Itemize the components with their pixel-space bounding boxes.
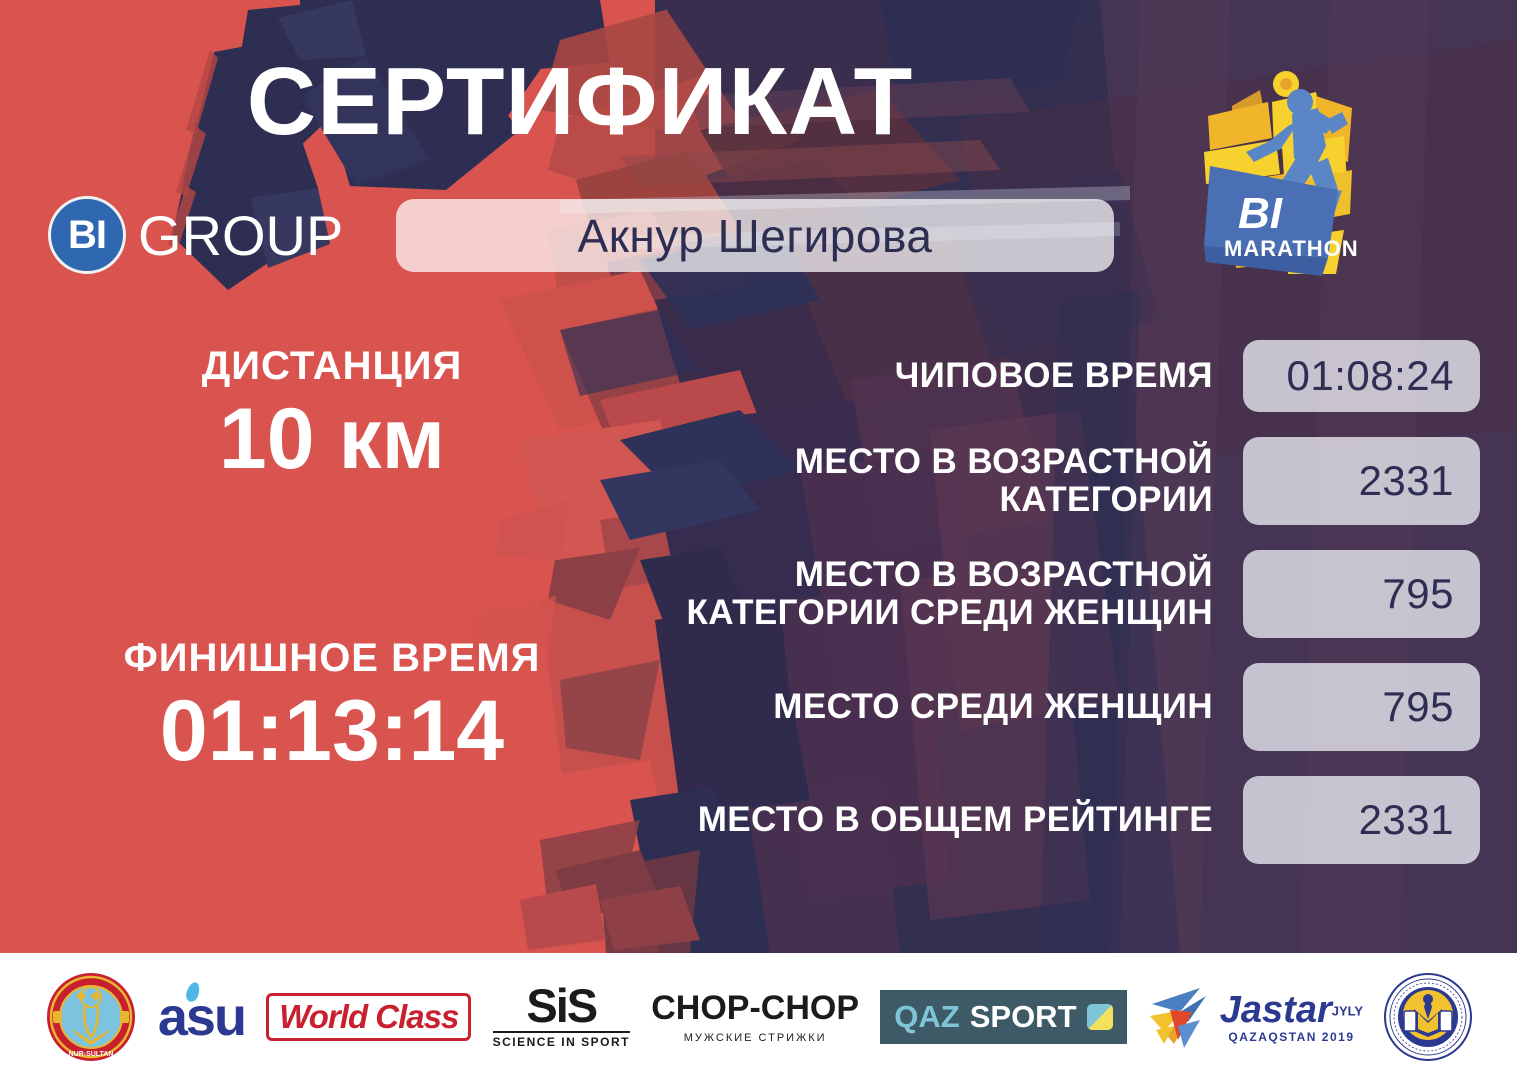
sponsor-asu: asu xyxy=(158,969,245,1065)
right-stats-column: ЧИПОВОЕ ВРЕМЯ 01:08:24 МЕСТО В ВОЗРАСТНО… xyxy=(600,340,1480,889)
stat-row: ЧИПОВОЕ ВРЕМЯ 01:08:24 xyxy=(600,340,1480,412)
stat-label: ЧИПОВОЕ ВРЕМЯ xyxy=(600,357,1243,396)
sponsor-bar: NUR-SULTAN asu World Class SiS SCIENCE I… xyxy=(0,953,1517,1080)
sponsor-ministry-seal xyxy=(1384,969,1472,1065)
bi-marathon-logo-icon: BI MARATHON xyxy=(1176,62,1396,294)
stat-value: 01:08:24 xyxy=(1243,340,1480,412)
certificate-page: СЕРТИФИКАТ BI GROUP Акнур Шегирова xyxy=(0,0,1517,1080)
chop-chop-big-text: CHOP-CHOP xyxy=(651,989,859,1028)
chop-chop-small-text: МУЖСКИЕ СТРИЖКИ xyxy=(651,1032,859,1044)
finish-time-value: 01:13:14 xyxy=(92,685,572,778)
stat-value: 795 xyxy=(1243,550,1480,638)
sponsor-nur-sultan: NUR-SULTAN xyxy=(45,969,137,1065)
stat-row: МЕСТО В ВОЗРАСТНОЙ КАТЕГОРИИ СРЕДИ ЖЕНЩИ… xyxy=(600,550,1480,638)
marathon-logo-line2: MARATHON xyxy=(1224,236,1359,261)
nur-sultan-label: NUR-SULTAN xyxy=(68,1051,113,1058)
stat-label: МЕСТО В ВОЗРАСТНОЙ КАТЕГОРИИ xyxy=(600,443,1243,520)
stat-label: МЕСТО СРЕДИ ЖЕНЩИН xyxy=(600,688,1243,727)
stat-value: 795 xyxy=(1243,663,1480,751)
stat-value: 2331 xyxy=(1243,776,1480,864)
nur-sultan-emblem-icon: NUR-SULTAN xyxy=(45,971,137,1063)
sponsor-qazsport: QAZSPORT xyxy=(880,969,1126,1065)
bi-marathon-logo: BI MARATHON xyxy=(1176,62,1396,294)
stat-row: МЕСТО В ВОЗРАСТНОЙ КАТЕГОРИИ 2331 xyxy=(600,437,1480,525)
ministry-seal-icon xyxy=(1384,973,1472,1061)
jastar-name-row: JastarJYLY xyxy=(1220,991,1363,1029)
sis-big-text: SiS xyxy=(493,984,630,1029)
jastar-name: Jastar xyxy=(1220,989,1332,1031)
asu-wordmark: asu xyxy=(158,986,245,1048)
world-class-wordmark: World Class xyxy=(266,993,471,1041)
page-title: СЕРТИФИКАТ xyxy=(0,52,1160,153)
sponsor-sis: SiS SCIENCE IN SPORT xyxy=(493,969,630,1065)
qazsport-suffix: SPORT xyxy=(970,999,1077,1035)
finish-time-label: ФИНИШНОЕ ВРЕМЯ xyxy=(92,636,572,681)
qazsport-prefix: QAZ xyxy=(894,999,959,1035)
sponsor-world-class: World Class xyxy=(266,969,471,1065)
stat-label: МЕСТО В ВОЗРАСТНОЙ КАТЕГОРИИ СРЕДИ ЖЕНЩИ… xyxy=(600,556,1243,633)
left-stats-column: ДИСТАНЦИЯ 10 км ФИНИШНОЕ ВРЕМЯ 01:13:14 xyxy=(92,344,572,778)
jastar-logo: JastarJYLY QAZAQSTAN 2019 xyxy=(1148,982,1363,1052)
stat-value: 2331 xyxy=(1243,437,1480,525)
sponsor-chop-chop: CHOP-CHOP МУЖСКИЕ СТРИЖКИ xyxy=(651,969,859,1065)
distance-label: ДИСТАНЦИЯ xyxy=(92,344,572,389)
marathon-logo-line1: BI xyxy=(1238,189,1283,238)
bi-group-logo: BI GROUP xyxy=(48,196,343,274)
sponsor-jastar-jyly: JastarJYLY QAZAQSTAN 2019 xyxy=(1148,969,1363,1065)
jastar-subtitle: QAZAQSTAN 2019 xyxy=(1220,1031,1363,1043)
jastar-jyly: JYLY xyxy=(1332,1003,1363,1018)
bi-badge-icon: BI xyxy=(48,196,126,274)
qazsport-wordmark: QAZSPORT xyxy=(880,990,1126,1044)
stat-row: МЕСТО СРЕДИ ЖЕНЩИН 795 xyxy=(600,663,1480,751)
finish-time-block: ФИНИШНОЕ ВРЕМЯ 01:13:14 xyxy=(92,636,572,778)
sis-small-text: SCIENCE IN SPORT xyxy=(493,1031,630,1049)
distance-value: 10 км xyxy=(92,393,572,486)
chop-chop-wordmark: CHOP-CHOP МУЖСКИЕ СТРИЖКИ xyxy=(651,989,859,1044)
jastar-text: JastarJYLY QAZAQSTAN 2019 xyxy=(1220,991,1363,1043)
asu-text: asu xyxy=(158,986,245,1048)
participant-name: Акнур Шегирова xyxy=(396,199,1114,272)
jastar-bird-icon xyxy=(1148,982,1214,1052)
stat-label: МЕСТО В ОБЩЕМ РЕЙТИНГЕ xyxy=(600,801,1243,840)
bi-group-wordmark: GROUP xyxy=(138,203,343,268)
stat-row: МЕСТО В ОБЩЕМ РЕЙТИНГЕ 2331 xyxy=(600,776,1480,864)
sis-wordmark: SiS SCIENCE IN SPORT xyxy=(493,984,630,1049)
qazsport-square-icon xyxy=(1087,1004,1113,1030)
